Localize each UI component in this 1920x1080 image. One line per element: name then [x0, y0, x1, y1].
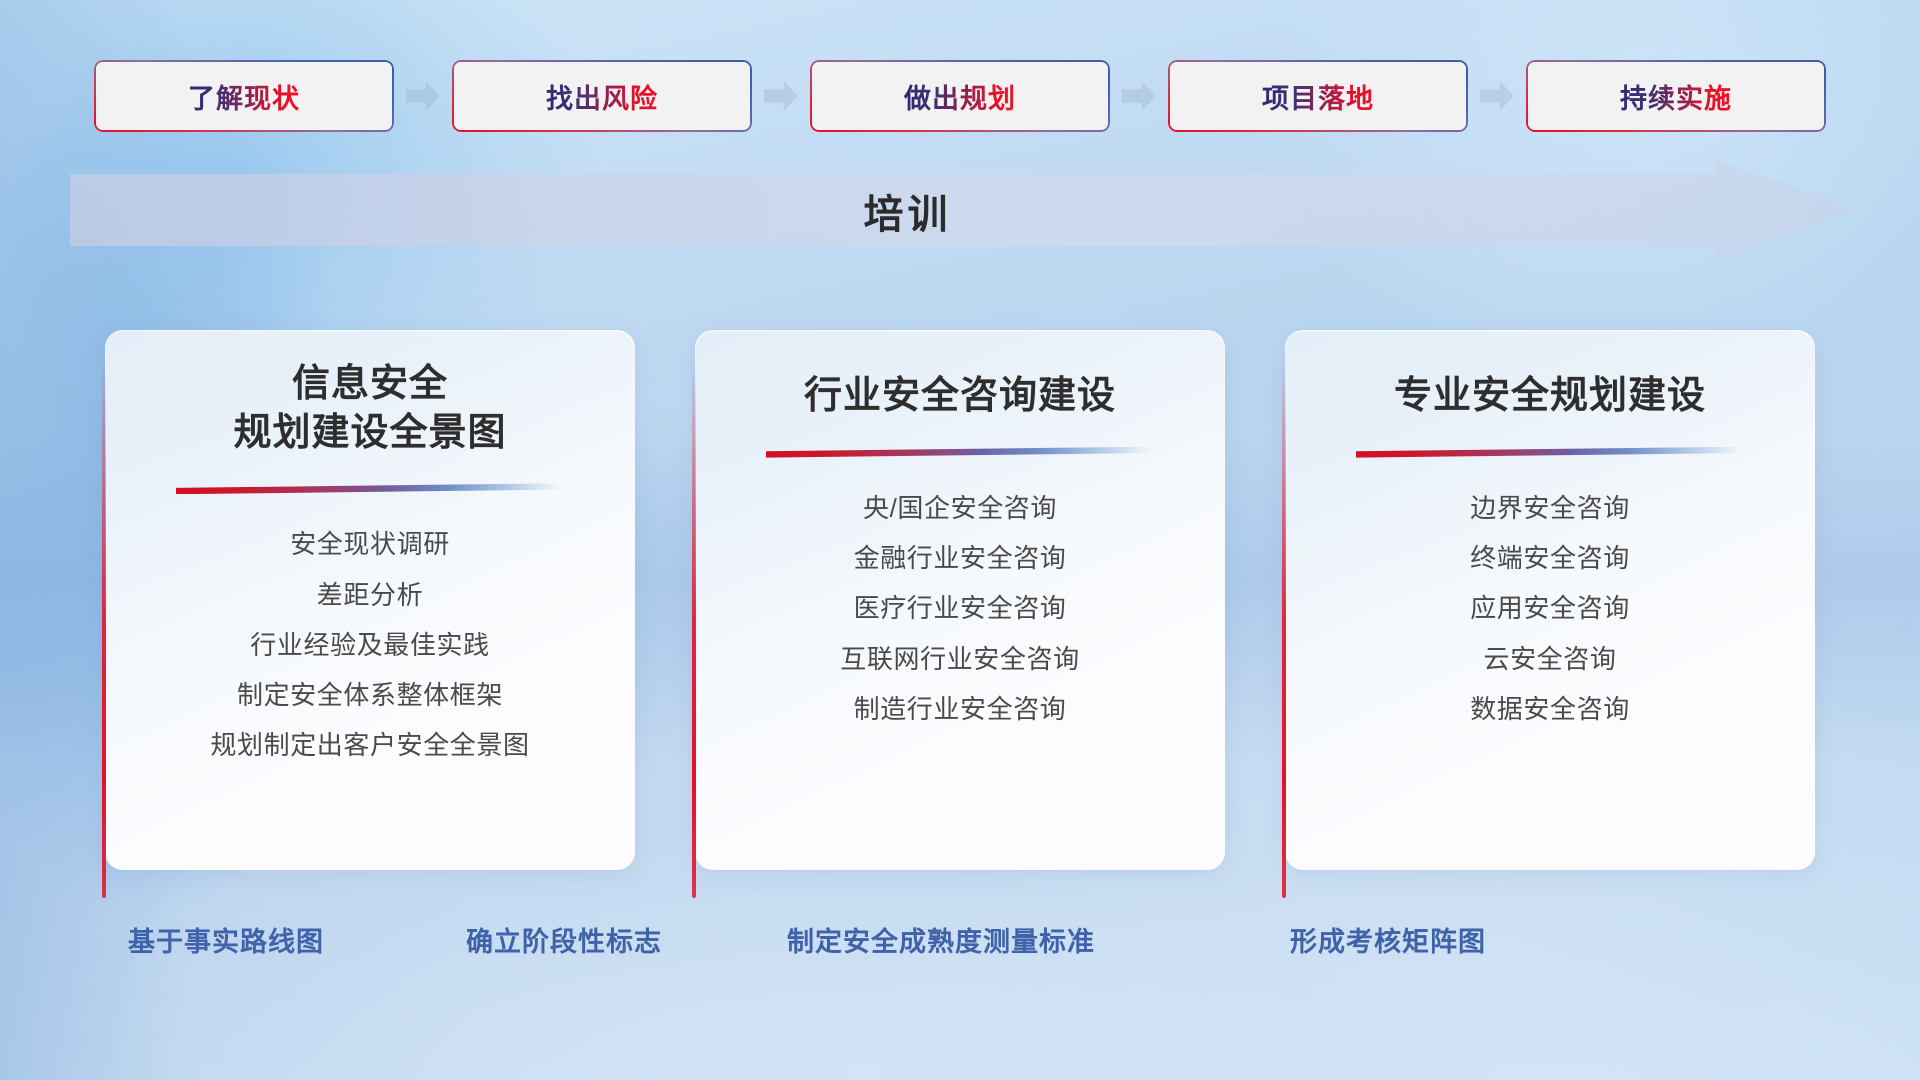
pipeline-step-0[interactable]: 了解现状 [94, 60, 394, 132]
footnote-1: 确立阶段性标志 [466, 920, 662, 959]
arrow-right-icon [406, 81, 440, 111]
footnote-labels: 基于事实路线图 确立阶段性标志 制定安全成熟度测量标准 形成考核矩阵图 [0, 920, 1920, 980]
list-item: 制定安全体系整体框架 [237, 675, 503, 715]
service-card-2[interactable]: 专业安全规划建设 边界安全咨询 终端安全咨询 应用安全咨询 云安全咨询 数据安全… [1285, 330, 1815, 870]
list-item: 行业经验及最佳实践 [250, 625, 489, 665]
service-card-1-title-line-0: 行业安全咨询建设 [695, 372, 1225, 421]
service-card-0-list: 安全现状调研 差距分析 行业经验及最佳实践 制定安全体系整体框架 规划制定出客户… [105, 524, 635, 765]
list-item: 边界安全咨询 [1470, 488, 1630, 528]
service-card-0-title-line-1: 规划建设全景图 [105, 409, 635, 458]
service-card-1-title: 行业安全咨询建设 [695, 372, 1225, 421]
service-card-0-title-line-0: 信息安全 [105, 360, 635, 409]
list-item: 安全现状调研 [290, 524, 450, 564]
process-pipeline: 了解现状 找出风险 做出规划 项目落地 持续实施 [0, 58, 1920, 134]
list-item: 规划制定出客户安全全景图 [210, 725, 529, 765]
service-card-2-list: 边界安全咨询 终端安全咨询 应用安全咨询 云安全咨询 数据安全咨询 [1285, 488, 1815, 729]
arrow-right-icon [1480, 81, 1514, 111]
pipeline-step-3-label: 项目落地 [1262, 77, 1374, 116]
list-item: 应用安全咨询 [1470, 588, 1630, 628]
footnote-3: 形成考核矩阵图 [1290, 920, 1486, 959]
pipeline-step-2-label: 做出规划 [904, 77, 1016, 116]
pipeline-step-1[interactable]: 找出风险 [452, 60, 752, 132]
footnote-2: 制定安全成熟度测量标准 [787, 920, 1095, 959]
service-card-0-divider [176, 483, 564, 494]
training-banner-label: 培训 [864, 182, 952, 240]
list-item: 金融行业安全咨询 [854, 538, 1067, 578]
pipeline-step-0-label: 了解现状 [188, 77, 300, 116]
arrow-right-icon [764, 81, 798, 111]
list-item: 制造行业安全咨询 [854, 689, 1067, 729]
pipeline-step-3[interactable]: 项目落地 [1168, 60, 1468, 132]
service-card-1[interactable]: 行业安全咨询建设 央/国企安全咨询 金融行业安全咨询 医疗行业安全咨询 互联网行… [695, 330, 1225, 870]
pipeline-step-2[interactable]: 做出规划 [810, 60, 1110, 132]
arrow-right-icon [1122, 81, 1156, 111]
service-cards: 信息安全 规划建设全景图 安全现状调研 差距分析 行业经验及最佳实践 制定安全体… [0, 330, 1920, 890]
list-item: 央/国企安全咨询 [863, 488, 1057, 528]
pipeline-step-4-label: 持续实施 [1620, 77, 1732, 116]
list-item: 医疗行业安全咨询 [854, 588, 1067, 628]
pipeline-step-3-inner: 项目落地 [1170, 62, 1466, 130]
pipeline-step-4[interactable]: 持续实施 [1526, 60, 1826, 132]
pipeline-step-1-inner: 找出风险 [454, 62, 750, 130]
pipeline-step-1-label: 找出风险 [546, 77, 658, 116]
list-item: 终端安全咨询 [1470, 538, 1630, 578]
service-card-0[interactable]: 信息安全 规划建设全景图 安全现状调研 差距分析 行业经验及最佳实践 制定安全体… [105, 330, 635, 870]
service-card-2-title-line-0: 专业安全规划建设 [1285, 372, 1815, 421]
pipeline-step-4-inner: 持续实施 [1528, 62, 1824, 130]
list-item: 数据安全咨询 [1470, 689, 1630, 729]
service-card-2-divider [1356, 447, 1744, 458]
service-card-1-divider [766, 447, 1154, 458]
training-banner: 培训 [70, 160, 1855, 260]
service-card-0-title: 信息安全 规划建设全景图 [105, 360, 635, 457]
list-item: 差距分析 [317, 575, 423, 615]
list-item: 互联网行业安全咨询 [840, 639, 1079, 679]
service-card-2-title: 专业安全规划建设 [1285, 372, 1815, 421]
footnote-0: 基于事实路线图 [128, 920, 324, 959]
pipeline-step-0-inner: 了解现状 [96, 62, 392, 130]
list-item: 云安全咨询 [1483, 639, 1616, 679]
service-card-1-list: 央/国企安全咨询 金融行业安全咨询 医疗行业安全咨询 互联网行业安全咨询 制造行… [695, 488, 1225, 729]
pipeline-step-2-inner: 做出规划 [812, 62, 1108, 130]
